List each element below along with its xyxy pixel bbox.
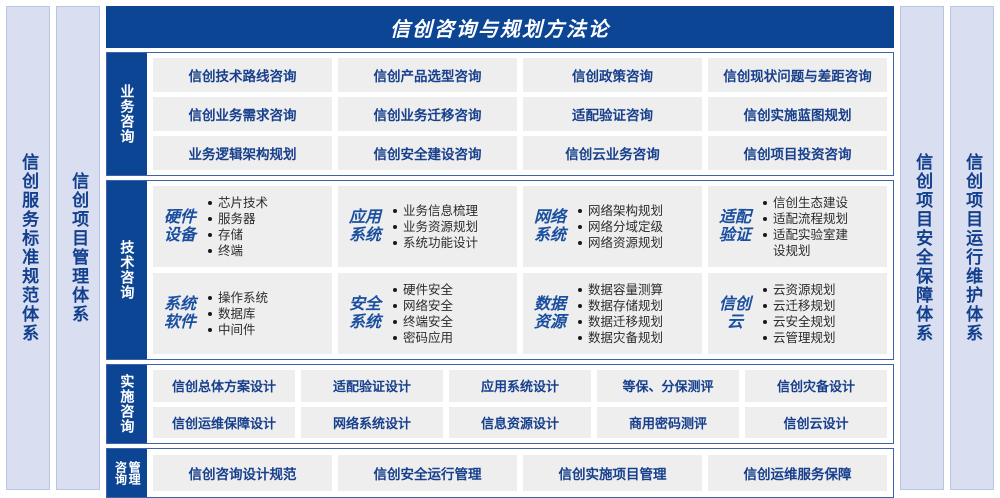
table-row: 系统软件 操作系统 数据库 中间件 安全系统 硬件安全 网络安全 终端安全 — [153, 273, 887, 354]
band-implementation-consulting: 实施咨询 信创总体方案设计 适配验证设计 应用系统设计 等保、分保测评 信创灾备… — [106, 364, 894, 444]
band-label-management: 咨询 管理 — [107, 449, 147, 497]
card-list: 数据容量测算 数据存储规划 数据迁移规划 数据灾备规划 — [577, 282, 696, 346]
card-title: 信创云 — [714, 296, 756, 331]
band-label-text: 技术咨询 — [120, 240, 135, 300]
table-row: 硬件设备 芯片技术 服务器 存储 终端 应用系统 业务信息梳理 业务资源规划 — [153, 186, 887, 267]
tech-card-adaptation[interactable]: 适配验证 信创生态建设 适配流程规划 适配实验室建 设规划 — [708, 186, 887, 267]
tech-card-data-resource[interactable]: 数据资源 数据容量测算 数据存储规划 数据迁移规划 数据灾备规划 — [523, 273, 702, 354]
tech-card-network[interactable]: 网络系统 网络架构规划 网络分域定级 网络资源规划 — [523, 186, 702, 267]
list-item[interactable]: 信创安全建设咨询 — [338, 136, 517, 170]
band-label-technical: 技术咨询 — [107, 181, 147, 359]
band-management-consulting: 咨询 管理 信创咨询设计规范 信创安全运行管理 信创实施项目管理 信创运维服务保… — [106, 448, 894, 498]
list-item[interactable]: 适配验证咨询 — [523, 97, 702, 131]
card-list: 云资源规划 云迁移规划 云安全规划 云管理规划 — [762, 282, 881, 346]
list-item: 网络安全 — [392, 298, 511, 314]
pillar-service-standard-system: 信创服务标准规范体系 — [6, 6, 50, 490]
list-item[interactable]: 信创实施蓝图规划 — [708, 97, 887, 131]
list-item: 网络资源规划 — [577, 235, 696, 251]
table-row: 信创技术路线咨询 信创产品选型咨询 信创政策咨询 信创现状问题与差距咨询 — [153, 58, 887, 92]
list-item[interactable]: 信创现状问题与差距咨询 — [708, 58, 887, 92]
table-row: 信创咨询设计规范 信创安全运行管理 信创实施项目管理 信创运维服务保障 — [153, 455, 887, 491]
tech-card-cloud[interactable]: 信创云 云资源规划 云迁移规划 云安全规划 云管理规划 — [708, 273, 887, 354]
band-label-text: 业务咨询 — [120, 84, 135, 144]
list-item[interactable]: 信创灾备设计 — [745, 370, 887, 402]
list-item: 数据存储规划 — [577, 298, 696, 314]
list-item: 网络架构规划 — [577, 203, 696, 219]
list-item: 服务器 — [207, 211, 326, 227]
list-item: 数据灾备规划 — [577, 330, 696, 346]
card-list: 网络架构规划 网络分域定级 网络资源规划 — [577, 203, 696, 251]
band-label-text: 实施咨询 — [120, 374, 135, 434]
list-item: 操作系统 — [207, 290, 326, 306]
pillar-project-ops-system: 信创项目运行维护体系 — [950, 6, 994, 490]
list-item: 密码应用 — [392, 330, 511, 346]
list-item: 云迁移规划 — [762, 298, 881, 314]
list-item[interactable]: 业务逻辑架构规划 — [153, 136, 332, 170]
pillar-label: 信创项目运行维护体系 — [963, 153, 981, 343]
list-item[interactable]: 信息资源设计 — [449, 407, 591, 439]
pillar-project-management-system: 信创项目管理体系 — [56, 6, 100, 490]
card-title: 硬件设备 — [159, 209, 201, 244]
card-title: 适配验证 — [714, 209, 756, 244]
list-item[interactable]: 信创运维保障设计 — [153, 407, 295, 439]
card-list: 芯片技术 服务器 存储 终端 — [207, 195, 326, 259]
pillar-label: 信创服务标准规范体系 — [19, 153, 37, 343]
list-item[interactable]: 信创产品选型咨询 — [338, 58, 517, 92]
list-item: 云资源规划 — [762, 282, 881, 298]
table-row: 信创运维保障设计 网络系统设计 信息资源设计 商用密码测评 信创云设计 — [153, 407, 887, 439]
tech-card-application[interactable]: 应用系统 业务信息梳理 业务资源规划 系统功能设计 — [338, 186, 517, 267]
list-item: 芯片技术 — [207, 195, 326, 211]
pillar-label: 信创项目管理体系 — [69, 172, 87, 324]
center-stack: 信创咨询与规划方法论 业务咨询 信创技术路线咨询 信创产品选型咨询 信创政策咨询… — [106, 6, 894, 490]
band-body-implementation: 信创总体方案设计 适配验证设计 应用系统设计 等保、分保测评 信创灾备设计 信创… — [147, 365, 893, 443]
list-item[interactable]: 适配验证设计 — [301, 370, 443, 402]
card-list: 业务信息梳理 业务资源规划 系统功能设计 — [392, 203, 511, 251]
list-item: 业务信息梳理 — [392, 203, 511, 219]
page-title: 信创咨询与规划方法论 — [106, 6, 894, 48]
list-item[interactable]: 信创业务需求咨询 — [153, 97, 332, 131]
card-list: 信创生态建设 适配流程规划 适配实验室建 设规划 — [762, 195, 881, 259]
band-label-implementation: 实施咨询 — [107, 365, 147, 443]
band-body-business: 信创技术路线咨询 信创产品选型咨询 信创政策咨询 信创现状问题与差距咨询 信创业… — [147, 53, 893, 175]
list-item: 适配实验室建 — [762, 227, 881, 243]
card-list: 硬件安全 网络安全 终端安全 密码应用 — [392, 282, 511, 346]
list-item: 适配流程规划 — [762, 211, 881, 227]
tech-card-hardware[interactable]: 硬件设备 芯片技术 服务器 存储 终端 — [153, 186, 332, 267]
card-title: 应用系统 — [344, 209, 386, 244]
list-item: 云安全规划 — [762, 314, 881, 330]
list-item[interactable]: 信创云设计 — [745, 407, 887, 439]
band-body-technical: 硬件设备 芯片技术 服务器 存储 终端 应用系统 业务信息梳理 业务资源规划 — [147, 181, 893, 359]
band-business-consulting: 业务咨询 信创技术路线咨询 信创产品选型咨询 信创政策咨询 信创现状问题与差距咨… — [106, 52, 894, 176]
list-item[interactable]: 信创总体方案设计 — [153, 370, 295, 402]
tech-card-security[interactable]: 安全系统 硬件安全 网络安全 终端安全 密码应用 — [338, 273, 517, 354]
table-row: 信创业务需求咨询 信创业务迁移咨询 适配验证咨询 信创实施蓝图规划 — [153, 97, 887, 131]
list-item[interactable]: 信创技术路线咨询 — [153, 58, 332, 92]
list-item[interactable]: 信创政策咨询 — [523, 58, 702, 92]
list-item: 业务资源规划 — [392, 219, 511, 235]
list-item[interactable]: 等保、分保测评 — [597, 370, 739, 402]
list-item: 数据库 — [207, 306, 326, 322]
list-item[interactable]: 商用密码测评 — [597, 407, 739, 439]
card-title: 安全系统 — [344, 296, 386, 331]
pillar-project-security-system: 信创项目安全保障体系 — [900, 6, 944, 490]
card-list: 操作系统 数据库 中间件 — [207, 290, 326, 338]
list-item: 数据迁移规划 — [577, 314, 696, 330]
list-item[interactable]: 信创云业务咨询 — [523, 136, 702, 170]
list-item: 终端安全 — [392, 314, 511, 330]
list-item: 终端 — [207, 243, 326, 259]
band-body-management: 信创咨询设计规范 信创安全运行管理 信创实施项目管理 信创运维服务保障 — [147, 449, 893, 497]
list-item: 硬件安全 — [392, 282, 511, 298]
list-item: 系统功能设计 — [392, 235, 511, 251]
card-title: 数据资源 — [529, 296, 571, 331]
card-title: 网络系统 — [529, 209, 571, 244]
list-item[interactable]: 信创安全运行管理 — [338, 455, 517, 491]
list-item: 中间件 — [207, 322, 326, 338]
list-item[interactable]: 信创业务迁移咨询 — [338, 97, 517, 131]
list-item: 数据容量测算 — [577, 282, 696, 298]
list-item: 网络分域定级 — [577, 219, 696, 235]
card-title: 系统软件 — [159, 296, 201, 331]
list-item[interactable]: 网络系统设计 — [301, 407, 443, 439]
pillar-label: 信创项目安全保障体系 — [913, 153, 931, 343]
list-item: 信创生态建设 — [762, 195, 881, 211]
band-label-text-primary: 管理 — [128, 461, 141, 485]
table-row: 信创总体方案设计 适配验证设计 应用系统设计 等保、分保测评 信创灾备设计 — [153, 370, 887, 402]
list-item-continuation: 设规划 — [762, 243, 881, 259]
list-item: 云管理规划 — [762, 330, 881, 346]
table-row: 业务逻辑架构规划 信创安全建设咨询 信创云业务咨询 信创项目投资咨询 — [153, 136, 887, 170]
list-item[interactable]: 信创运维服务保障 — [708, 455, 887, 491]
diagram-root: 信创服务标准规范体系 信创项目管理体系 信创咨询与规划方法论 业务咨询 信创技术… — [0, 0, 1000, 496]
list-item: 存储 — [207, 227, 326, 243]
list-item[interactable]: 信创咨询设计规范 — [153, 455, 332, 491]
band-label-business: 业务咨询 — [107, 53, 147, 175]
tech-card-system-software[interactable]: 系统软件 操作系统 数据库 中间件 — [153, 273, 332, 354]
list-item[interactable]: 信创实施项目管理 — [523, 455, 702, 491]
band-label-text-secondary: 咨询 — [114, 461, 127, 485]
band-technical-consulting: 技术咨询 硬件设备 芯片技术 服务器 存储 终端 应用系统 — [106, 180, 894, 360]
list-item[interactable]: 应用系统设计 — [449, 370, 591, 402]
list-item[interactable]: 信创项目投资咨询 — [708, 136, 887, 170]
